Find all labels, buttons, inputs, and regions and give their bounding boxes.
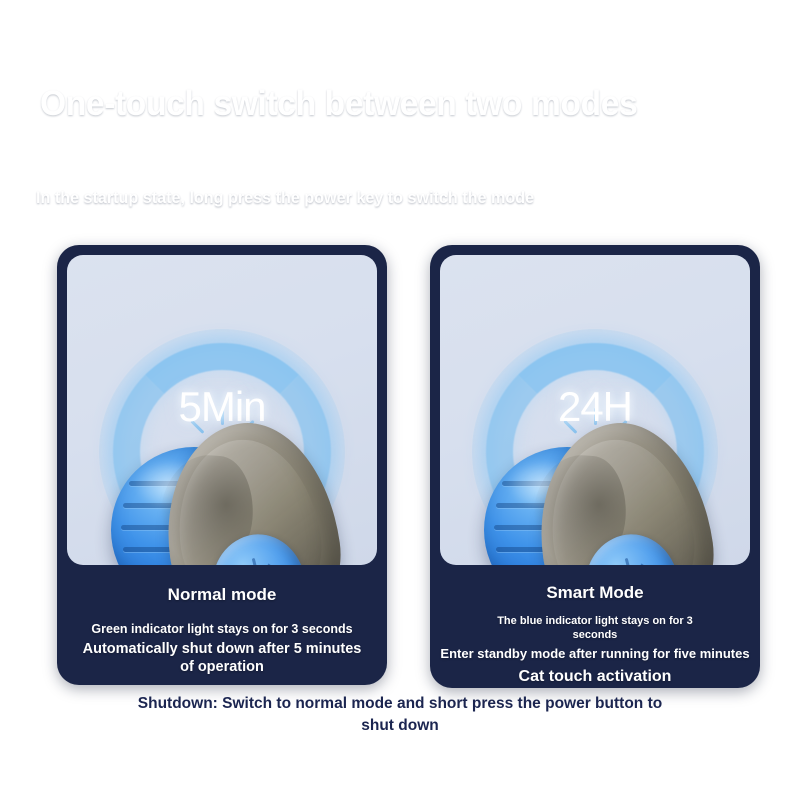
smart-mode-line-2: Enter standby mode after running for fiv… (430, 646, 760, 661)
normal-mode-line-1: Green indicator light stays on for 3 sec… (57, 622, 387, 636)
smart-mode-card[interactable]: 24H (430, 245, 760, 688)
page-title: One-touch switch between two modes (40, 84, 637, 124)
normal-mode-card[interactable]: 5Min (57, 245, 387, 685)
smart-mode-title: Smart Mode (546, 583, 643, 603)
product-shell (526, 412, 724, 565)
smart-mode-description: The blue indicator light stays on for 3 … (430, 603, 760, 686)
normal-mode-description: Green indicator light stays on for 3 sec… (57, 605, 387, 676)
smart-mode-image-panel: 24H (440, 255, 750, 565)
product-shell (153, 412, 351, 565)
normal-mode-title: Normal mode (168, 585, 277, 605)
smart-mode-line-1: The blue indicator light stays on for 3 … (430, 615, 760, 643)
title-accent-rule (60, 159, 140, 163)
normal-mode-line-2: Automatically shut down after 5 minutes … (57, 640, 387, 676)
smart-mode-line-3: Cat touch activation (430, 668, 760, 686)
product-image-normal (107, 423, 337, 565)
shutdown-instruction: Shutdown: Switch to normal mode and shor… (0, 693, 800, 738)
normal-mode-image-panel: 5Min (67, 255, 377, 565)
page-subtitle: In the startup state, long press the pow… (36, 188, 534, 208)
product-image-smart (480, 423, 710, 565)
